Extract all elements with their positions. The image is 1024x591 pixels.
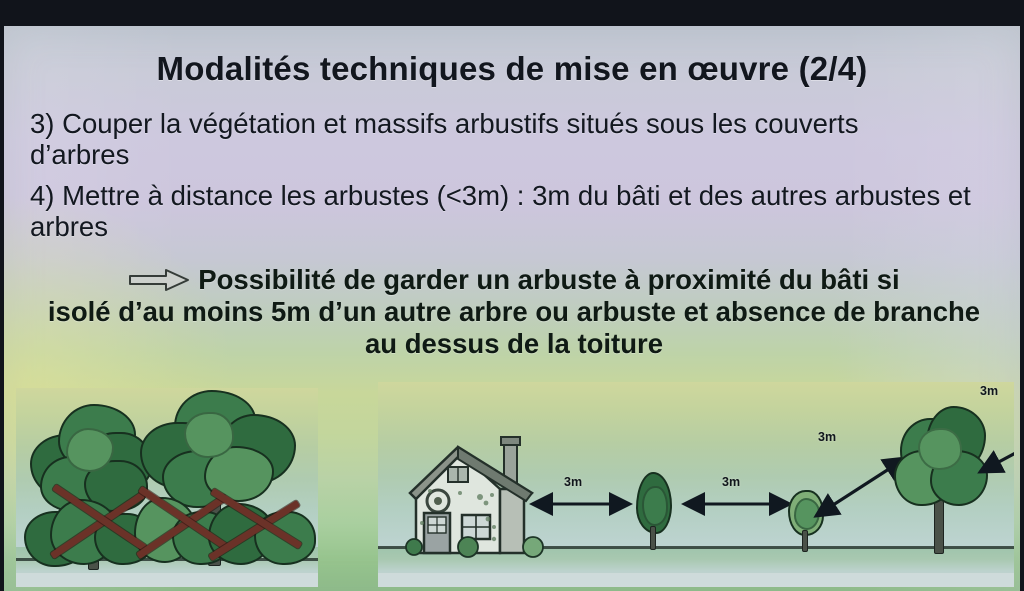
page-title: Modalités techniques de mise en œuvre (2…: [4, 50, 1020, 88]
conclusion-line-2: isolé d’au moins 5m d’un autre arbre ou …: [48, 296, 826, 327]
bullet-4: 4) Mettre à distance les arbustes (<3m) …: [30, 180, 980, 243]
photo-frame: 3m 3m 3m: [0, 0, 1024, 591]
conclusion-block: Possibilité de garder un arbuste à proxi…: [44, 264, 984, 360]
bullet-3: 3) Couper la végétation et massifs arbus…: [30, 108, 900, 171]
conclusion-line-1: Possibilité de garder un arbuste à proxi…: [198, 264, 899, 295]
presentation-slide: 3m 3m 3m: [4, 26, 1020, 591]
block-arrow-right-icon: [128, 268, 190, 292]
slide-text-layer: Modalités techniques de mise en œuvre (2…: [4, 26, 1020, 591]
